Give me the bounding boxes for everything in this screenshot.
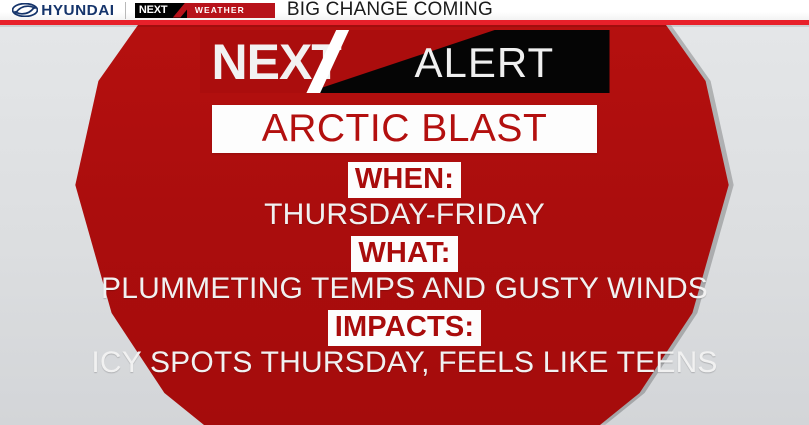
hyundai-logo: HYUNDAI (12, 1, 114, 19)
topbar-headline: BIG CHANGE COMING (287, 0, 493, 20)
badge-next-label: NEXT (139, 4, 168, 17)
section-what-detail: PLUMMETING TEMPS AND GUSTY WINDS (101, 272, 708, 306)
section-impacts-detail: ICY SPOTS THURSDAY, FEELS LIKE TEENS (91, 346, 717, 380)
red-divider-rule (0, 20, 809, 25)
section-when-detail: THURSDAY-FRIDAY (264, 198, 545, 232)
section-impacts: IMPACTS: ICY SPOTS THURSDAY, FEELS LIKE … (91, 310, 717, 380)
section-when: WHEN: THURSDAY-FRIDAY (264, 162, 545, 232)
hyundai-emblem-icon (12, 3, 38, 17)
weather-alert-graphic: HYUNDAI NEXT WEATHER ALERT BIG CHANGE CO… (0, 0, 809, 425)
logo-alert-text: ALERT (415, 39, 555, 86)
page-title: ARCTIC BLAST (262, 108, 548, 150)
next-weather-alert-badge: NEXT WEATHER ALERT (135, 3, 275, 18)
alert-title-box: ARCTIC BLAST (212, 105, 597, 153)
badge-weather-alert-label: WEATHER ALERT (195, 5, 275, 18)
next-alert-logo: NEXT ALERT (200, 30, 610, 93)
section-what: WHAT: PLUMMETING TEMPS AND GUSTY WINDS (101, 236, 708, 306)
topbar-divider (125, 2, 126, 19)
section-impacts-label: IMPACTS: (328, 310, 482, 346)
hyundai-wordmark: HYUNDAI (41, 3, 114, 18)
alert-content: NEXT ALERT ARCTIC BLAST WHEN: THURSDAY-F… (0, 25, 809, 425)
section-when-label: WHEN: (348, 162, 461, 198)
red-divider-shadow (0, 25, 809, 27)
section-what-label: WHAT: (351, 236, 457, 272)
top-sponsor-bar: HYUNDAI NEXT WEATHER ALERT BIG CHANGE CO… (0, 0, 809, 20)
